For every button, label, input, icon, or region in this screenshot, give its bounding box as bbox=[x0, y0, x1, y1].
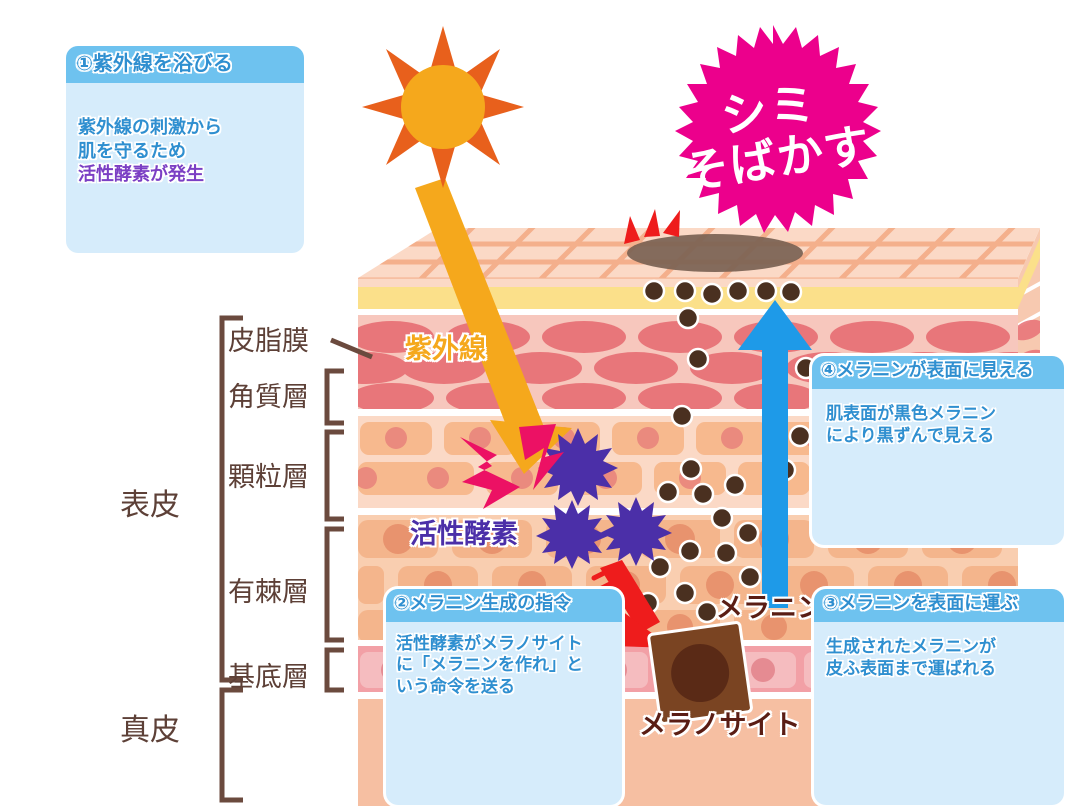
callout-box-4-header: ④メラニンが表面に見える bbox=[812, 356, 1064, 389]
melanin-formation-diagram: 皮脂膜 角質層 顆粒層 有棘層 基底層 表皮 真皮 紫外線 活性酵素 メラニン … bbox=[0, 0, 1080, 810]
uv-label: 紫外線 bbox=[405, 327, 486, 366]
callout-box-3[interactable]: ③メラニンを表面に運ぶ 生成されたメラニンが 皮ふ表面まで運ばれる bbox=[814, 589, 1064, 805]
callout-box-4[interactable]: ④メラニンが表面に見える 肌表面が黒色メラニン により黒ずんで見える bbox=[812, 356, 1064, 545]
layer-label-granular: 顆粒層 bbox=[228, 455, 309, 494]
callout-box-1-body-line1: 紫外線の刺激から 肌を守るため bbox=[78, 117, 222, 161]
layer-label-sebum: 皮脂膜 bbox=[228, 319, 309, 358]
ros-label: 活性酵素 bbox=[410, 512, 518, 551]
callout-box-2[interactable]: ②メラニン生成の指令 活性酵素がメラノサイト に「メラニンを作れ」と いう命令を… bbox=[386, 589, 622, 805]
callout-box-3-body: 生成されたメラニンが 皮ふ表面まで運ばれる bbox=[814, 622, 1064, 686]
shimi-sobakasu-burst-icon bbox=[675, 25, 881, 233]
callout-box-1-body: 紫外線の刺激から 肌を守るため 活性酵素が発生 bbox=[66, 83, 304, 193]
callout-box-4-body: 肌表面が黒色メラニン により黒ずんで見える bbox=[812, 389, 1064, 453]
melanocyte-label: メラノサイト bbox=[639, 703, 800, 742]
callout-box-2-body: 活性酵素がメラノサイト に「メラニンを作れ」と いう命令を送る bbox=[386, 622, 622, 704]
sun-icon bbox=[362, 26, 524, 188]
layer-group-dermis: 真皮 bbox=[120, 705, 180, 749]
callout-box-1-body-line2: 活性酵素が発生 bbox=[78, 164, 204, 185]
callout-box-1-header: ①紫外線を浴びる bbox=[66, 46, 304, 83]
age-spot-icon bbox=[627, 234, 803, 272]
layer-group-epidermis: 表皮 bbox=[120, 480, 180, 524]
callout-box-2-header: ②メラニン生成の指令 bbox=[386, 589, 622, 622]
callout-box-3-header: ③メラニンを表面に運ぶ bbox=[814, 589, 1064, 622]
layer-label-basal: 基底層 bbox=[228, 655, 309, 694]
callout-box-1[interactable]: ①紫外線を浴びる 紫外線の刺激から 肌を守るため 活性酵素が発生 bbox=[66, 46, 304, 253]
layer-label-spinous: 有棘層 bbox=[228, 570, 309, 609]
melanin-label: メラニン bbox=[716, 586, 824, 625]
layer-label-corneum: 角質層 bbox=[228, 375, 309, 414]
